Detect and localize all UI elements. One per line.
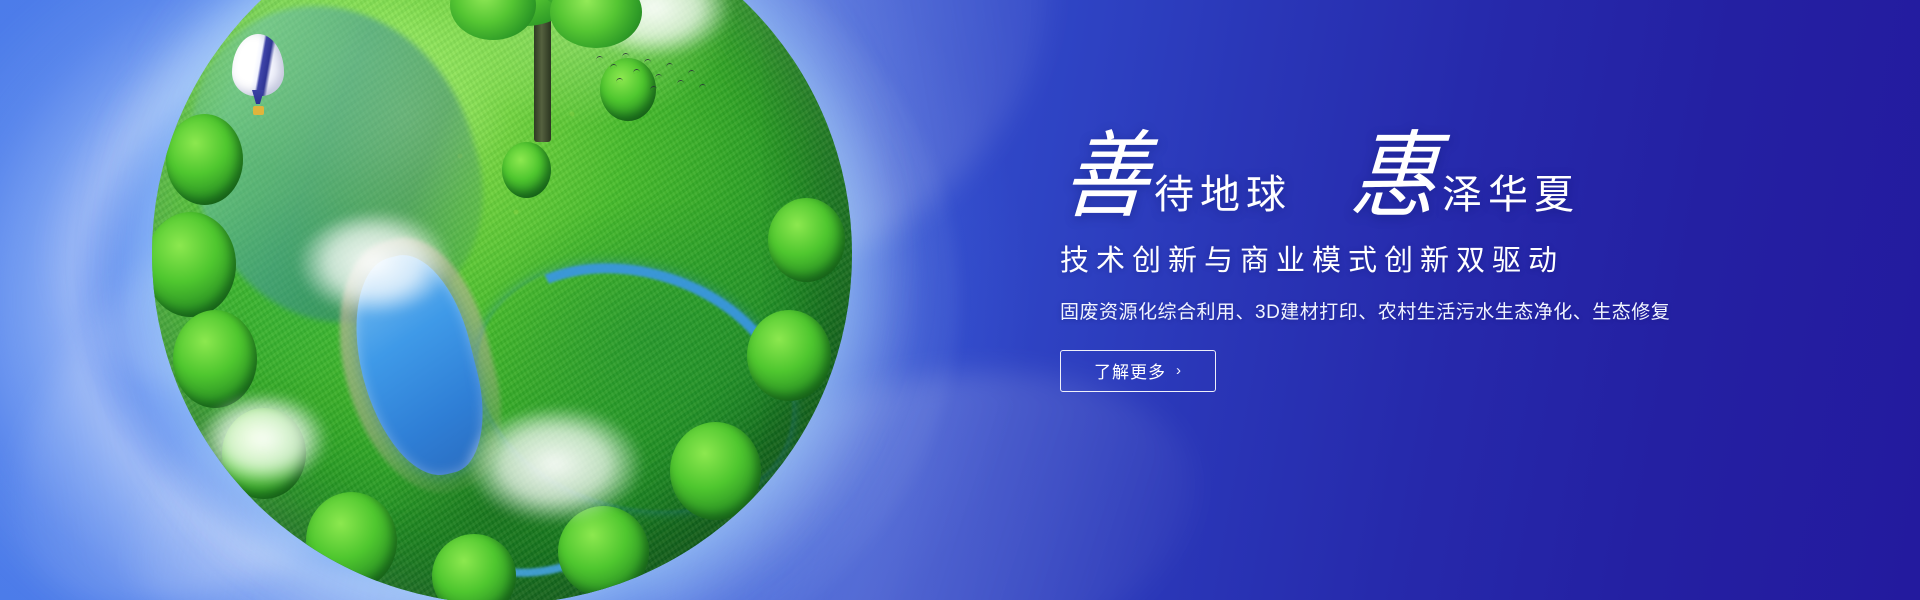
learn-more-label: 了解更多: [1094, 358, 1166, 383]
tree-crown: [550, 0, 642, 48]
cloud: [194, 394, 348, 506]
lake: [337, 244, 500, 488]
headline-brush-char-2: 惠: [1348, 132, 1444, 223]
bird-flock: [592, 50, 722, 94]
tree-canopy: [173, 310, 257, 408]
headline-rest-1: 待地球: [1150, 175, 1292, 223]
headline: 善 待地球 惠 泽华夏: [1060, 140, 1760, 223]
headline-brush-char-1: 善: [1060, 132, 1156, 223]
cloud: [292, 212, 474, 338]
description: 固废资源化综合利用、3D建材打印、农村生活污水生态净化、生态修复: [1060, 297, 1760, 324]
balloon-envelope: [232, 34, 284, 96]
tree-canopy: [558, 506, 649, 597]
balloon-neck: [252, 90, 264, 104]
balloon-basket: [253, 106, 264, 115]
hot-air-balloon-icon: [232, 34, 284, 120]
tree-canopy: [222, 408, 306, 499]
tree-canopy: [670, 422, 761, 520]
lake-shore: [315, 223, 520, 510]
tree-canopy: [152, 212, 236, 317]
hero-banner: 善 待地球 惠 泽华夏 技术创新与商业模式创新双驱动 固废资源化综合利用、3D建…: [0, 0, 1920, 600]
cloud-wisp: [89, 238, 790, 600]
tree-canopy: [747, 310, 831, 401]
river: [445, 224, 825, 550]
subtitle: 技术创新与商业模式创新双驱动: [1060, 237, 1760, 279]
tree-canopy: [432, 534, 516, 600]
hero-content: 善 待地球 惠 泽华夏 技术创新与商业模式创新双驱动 固废资源化综合利用、3D建…: [1060, 140, 1760, 392]
tree-canopy: [502, 142, 551, 198]
learn-more-button[interactable]: 了解更多 ›: [1060, 350, 1216, 392]
tree-canopy: [768, 198, 845, 282]
tree-canopy: [306, 492, 397, 590]
tree-crown: [450, 0, 536, 40]
chevron-right-icon: ›: [1176, 362, 1182, 379]
headline-rest-2: 泽华夏: [1438, 175, 1580, 223]
tree-canopy: [166, 114, 243, 205]
cloud: [460, 408, 670, 548]
river: [388, 346, 673, 597]
